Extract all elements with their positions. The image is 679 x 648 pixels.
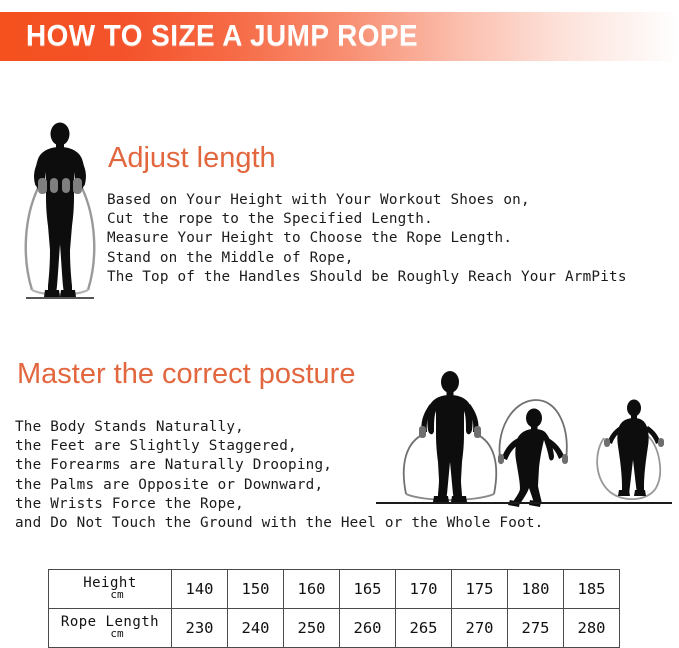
page-title: HOW TO SIZE A JUMP ROPE [26,21,418,51]
header-banner: HOW TO SIZE A JUMP ROPE [0,12,679,61]
rope-length-value: 265 [396,609,452,648]
rope-length-value: 240 [228,609,284,648]
adjust-length-body-text: Based on Your Height with Your Workout S… [107,191,627,287]
rope-length-value: 260 [340,609,396,648]
table-row-height: Height cm 140 150 160 165 170 175 180 18… [49,570,620,609]
height-value: 165 [340,570,396,609]
height-value: 175 [452,570,508,609]
rope-length-value: 250 [284,609,340,648]
rope-length-value: 280 [564,609,620,648]
jump-rope-size-table: Height cm 140 150 160 165 170 175 180 18… [48,569,620,648]
height-value: 160 [284,570,340,609]
height-value: 180 [508,570,564,609]
rope-length-value: 230 [172,609,228,648]
height-value: 185 [564,570,620,609]
three-jumping-figures-illustration [372,368,674,508]
rope-length-value: 275 [508,609,564,648]
height-value: 150 [228,570,284,609]
master-posture-heading: Master the correct posture [17,360,355,389]
row-label-height: Height cm [49,570,172,609]
height-value: 170 [396,570,452,609]
row-label-rope-length: Rope Length cm [49,609,172,648]
table-row-rope-length: Rope Length cm 230 240 250 260 265 270 2… [49,609,620,648]
adjust-length-heading: Adjust length [108,144,276,173]
height-value: 140 [172,570,228,609]
person-standing-on-rope-illustration [14,118,106,303]
rope-length-value: 270 [452,609,508,648]
row-label-height-unit: cm [65,589,169,600]
